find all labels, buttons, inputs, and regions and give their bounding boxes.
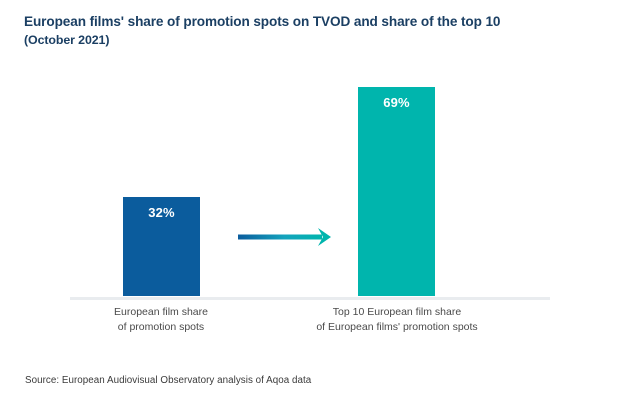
chart-container: European films' share of promotion spots… xyxy=(0,0,626,411)
category-label-line: European film share xyxy=(81,305,241,320)
bar-european-film-share: 32% xyxy=(123,197,200,296)
bar-top10-european-film-share: 69% xyxy=(358,87,435,296)
gradient-arrow-right-icon xyxy=(238,224,338,250)
category-label-1: European film share of promotion spots xyxy=(81,305,241,334)
bar-value-label: 69% xyxy=(358,95,435,110)
category-label-line: Top 10 European film share xyxy=(294,305,500,320)
bar-value-label: 32% xyxy=(123,205,200,220)
page-title: European films' share of promotion spots… xyxy=(24,13,604,31)
category-label-line: of promotion spots xyxy=(81,320,241,335)
category-label-2: Top 10 European film share of European f… xyxy=(294,305,500,334)
chart-subtitle: (October 2021) xyxy=(24,32,604,49)
category-label-line: of European films' promotion spots xyxy=(294,320,500,335)
plot-area: 32% 69% xyxy=(0,60,626,300)
source-note: Source: European Audiovisual Observatory… xyxy=(25,375,311,386)
axis-baseline xyxy=(70,297,550,300)
chart-title-block: European films' share of promotion spots… xyxy=(24,13,604,49)
